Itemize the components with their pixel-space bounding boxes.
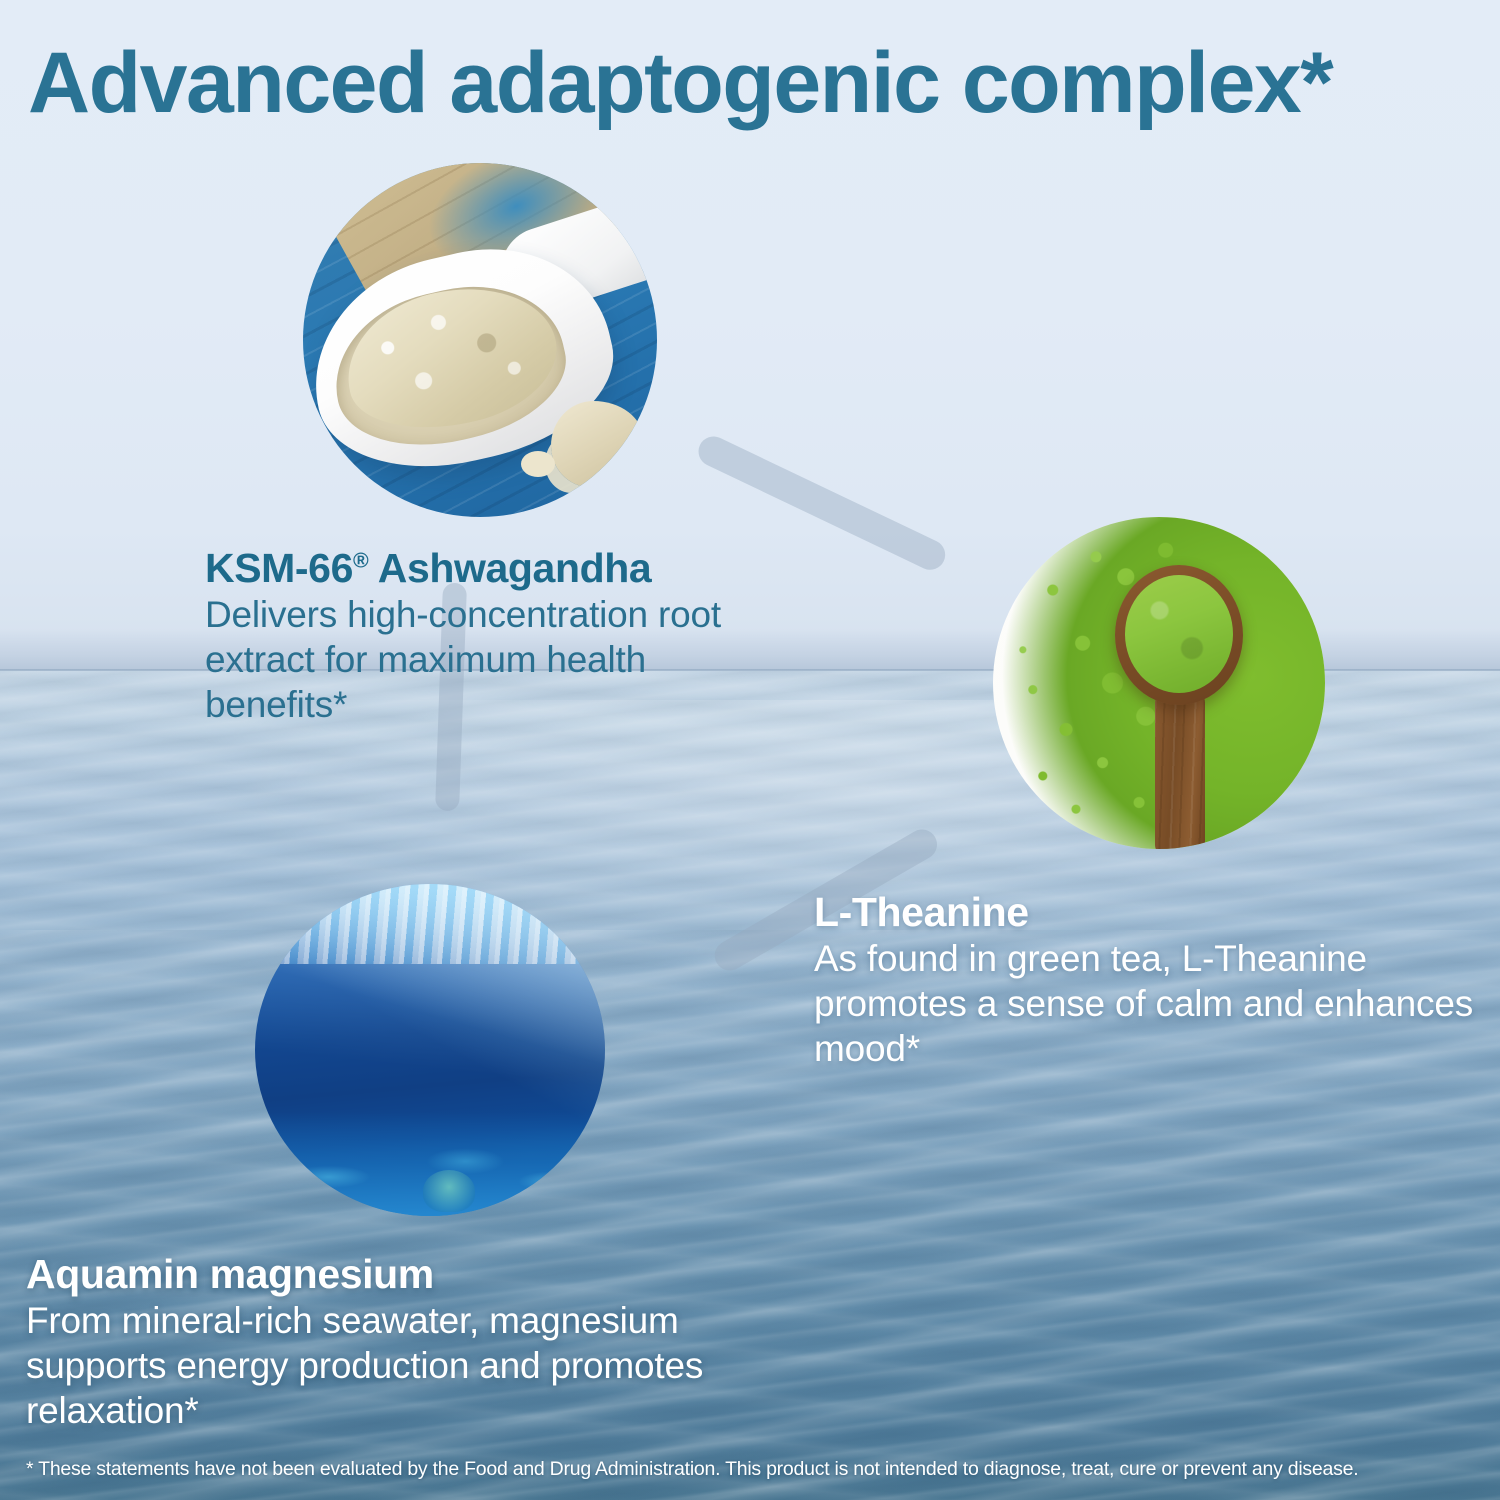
ingredient-image-ksm-66-ashwagandha — [303, 163, 657, 517]
heading-part-rest: Ashwagandha — [368, 545, 651, 591]
ingredient-text-ksm-66-ashwagandha: KSM-66® Ashwagandha Delivers high-concen… — [205, 547, 785, 727]
ingredient-text-l-theanine: L-Theanine As found in green tea, L-Thea… — [814, 891, 1484, 1071]
ingredient-image-aquamin-magnesium — [255, 884, 605, 1216]
spoon-powder-fill — [1125, 575, 1233, 693]
ingredient-image-l-theanine — [993, 517, 1325, 849]
spilled-powder-small — [521, 451, 555, 477]
wooden-spoon-handle — [1155, 687, 1205, 849]
ingredient-heading-l-theanine: L-Theanine — [814, 891, 1484, 934]
ingredient-body-ksm-66-ashwagandha: Delivers high-concentration root extract… — [205, 592, 785, 727]
ingredient-heading-aquamin-magnesium: Aquamin magnesium — [26, 1253, 806, 1296]
ingredient-body-l-theanine: As found in green tea, L-Theanine promot… — [814, 936, 1484, 1071]
registered-trademark-icon: ® — [353, 548, 368, 572]
sea-vegetation — [423, 1170, 475, 1212]
heading-part-name: KSM-66 — [205, 545, 353, 591]
ingredient-body-aquamin-magnesium: From mineral-rich seawater, magnesium su… — [26, 1298, 806, 1433]
infographic-canvas: Advanced adaptogenic complex* KSM-66® As… — [0, 0, 1500, 1500]
water-surface — [255, 884, 605, 964]
ingredient-heading-ksm-66-ashwagandha: KSM-66® Ashwagandha — [205, 547, 785, 590]
page-title: Advanced adaptogenic complex* — [28, 38, 1478, 128]
fda-disclaimer: * These statements have not been evaluat… — [26, 1458, 1478, 1481]
ingredient-text-aquamin-magnesium: Aquamin magnesium From mineral-rich seaw… — [26, 1253, 806, 1433]
